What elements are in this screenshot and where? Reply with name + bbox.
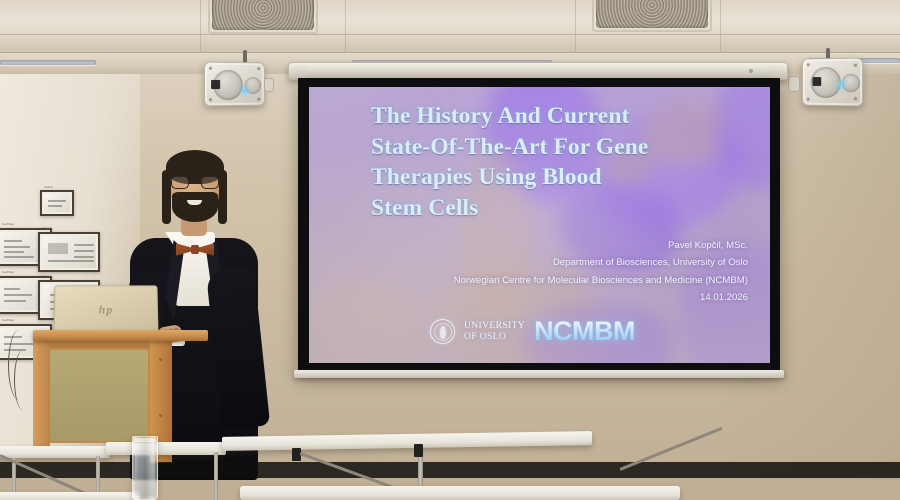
table-leg-bracket xyxy=(414,444,423,457)
front-table xyxy=(240,486,680,500)
slide-title: The History And Current State-Of-The-Art… xyxy=(371,101,701,223)
slide-subtitle-block: Pavel Kopčil, MSc. Department of Bioscie… xyxy=(376,237,748,306)
wall-speaker-left xyxy=(204,62,265,107)
certificate-caption: Diplom xyxy=(42,274,51,278)
university-of-oslo-wordmark: UNIVERSITY OF OSLO xyxy=(464,321,525,341)
wall-speaker-right xyxy=(802,58,863,107)
table-leg xyxy=(214,452,218,500)
certificate-caption: Sertifikat xyxy=(2,270,14,274)
presenter-department: Department of Biosciences, University of… xyxy=(376,254,748,271)
projection-screen-weight-bar xyxy=(294,370,784,378)
presenter-name: Pavel Kopčil, MSc. xyxy=(376,237,748,254)
wall-cable xyxy=(14,350,32,410)
ceiling-vent-icon xyxy=(212,0,314,30)
slot-vent-icon xyxy=(0,60,96,65)
wall-certificate xyxy=(38,232,100,272)
lectern-front-panel xyxy=(50,348,150,443)
presenter-table xyxy=(0,446,110,458)
university-of-oslo-seal-icon xyxy=(430,319,455,344)
eyeglasses-icon xyxy=(171,176,219,189)
presenter-table xyxy=(106,442,226,455)
slide-logo-row: UNIVERSITY OF OSLO NCMBM xyxy=(430,316,635,347)
certificate-caption: Sertifikat xyxy=(2,222,14,226)
ncmbm-logo: NCMBM xyxy=(534,316,635,347)
ceiling xyxy=(0,0,900,52)
presentation-slide: The History And Current State-Of-The-Art… xyxy=(309,87,770,363)
ceiling-vent-icon xyxy=(596,0,708,28)
certificate-caption: Diplom xyxy=(42,226,51,230)
lectern-top-surface xyxy=(33,330,208,341)
projection-screen: The History And Current State-Of-The-Art… xyxy=(298,78,780,374)
hp-logo: hp xyxy=(99,303,114,318)
lecture-hall-scene: The History And Current State-Of-The-Art… xyxy=(0,0,900,500)
front-table xyxy=(0,492,140,500)
bow-tie xyxy=(176,242,214,257)
laptop-lid: hp xyxy=(53,285,158,335)
presenter-centre: Norwegian Centre for Molecular Bioscienc… xyxy=(376,272,748,289)
certificate-caption: Diplom xyxy=(44,185,53,189)
water-glass xyxy=(132,436,158,500)
lectern-side-left xyxy=(33,338,50,458)
presentation-date: 14.01.2026 xyxy=(376,289,748,306)
wall-certificate xyxy=(40,190,74,216)
certificate-caption: Sertifikat xyxy=(2,318,14,322)
